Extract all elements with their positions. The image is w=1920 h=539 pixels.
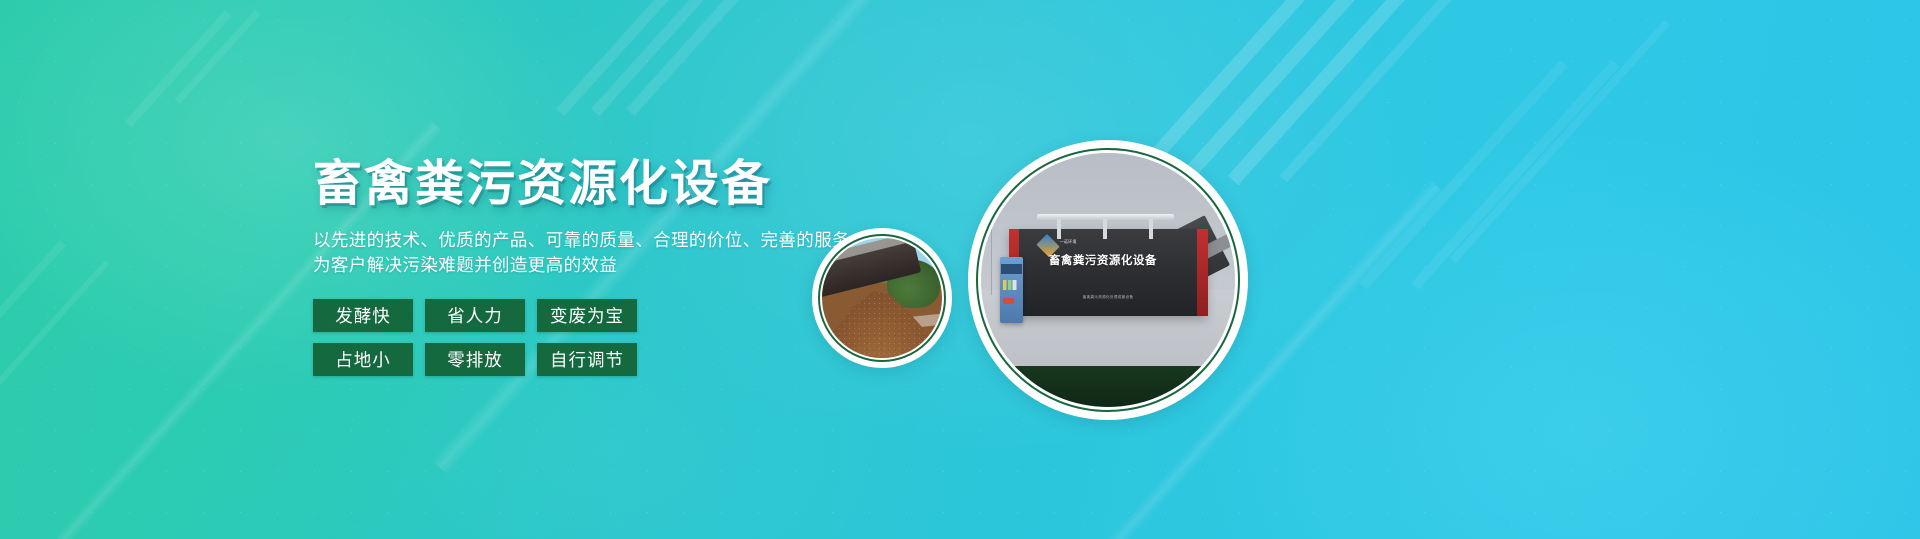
feature-tag-fajiaokuai[interactable]: 发酵快: [313, 299, 413, 332]
feature-tag-lingpaifang[interactable]: 零排放: [425, 343, 525, 376]
brand-logo-text: 一诺环境: [1060, 239, 1077, 245]
equipment-photo-image: 一诺环境 畜禽粪污资源化设备 畜禽粪污资源化处理成套设备: [981, 153, 1235, 407]
diagonal-stripe-decor: [125, 10, 232, 127]
noise-texture-overlay: [0, 0, 1920, 539]
compost-photo-circle[interactable]: [812, 228, 952, 368]
pipe-leg-decor: [1057, 219, 1061, 239]
photo-ring: [818, 234, 946, 362]
diagonal-stripe-decor: [1280, 0, 1455, 182]
machine-end-right-decor: [1197, 229, 1208, 315]
diagonal-stripe-decor: [1359, 60, 1567, 290]
control-button-decor: [1003, 298, 1014, 304]
photo-ring: 一诺环境 畜禽粪污资源化设备 畜禽粪污资源化处理成套设备: [976, 148, 1240, 412]
diagonal-stripe-decor: [1228, 0, 1406, 185]
diagonal-stripe-decor: [0, 240, 66, 424]
diagonal-stripe-decor: [175, 10, 260, 104]
compost-photo-image: [822, 238, 942, 358]
diagonal-stripe-decor: [626, 0, 768, 116]
diagonal-stripe-decor: [591, 0, 733, 116]
diagonal-stripe-decor: [1450, 20, 1670, 263]
hall-grass-decor: [981, 366, 1235, 407]
feature-tag-shengrenli[interactable]: 省人力: [425, 299, 525, 332]
light-bloom-decor: [1180, 120, 1920, 539]
feature-tag-zixingtiaojie[interactable]: 自行调节: [537, 343, 637, 376]
feature-tag-zhandixiao[interactable]: 占地小: [313, 343, 413, 376]
machine-label-text: 畜禽粪污资源化设备: [1024, 255, 1181, 268]
control-screen-decor: [1001, 264, 1022, 275]
equipment-photo-circle[interactable]: 一诺环境 畜禽粪污资源化设备 畜禽粪污资源化处理成套设备: [968, 140, 1248, 420]
diagonal-stripe-decor: [556, 0, 698, 116]
diagonal-stripe-decor: [1411, 60, 1619, 290]
hero-banner: 畜禽粪污资源化设备 以先进的技术、优质的产品、可靠的质量、合理的价位、完善的服务…: [0, 0, 1920, 539]
feature-tag-bianfeiweibao[interactable]: 变废为宝: [537, 299, 637, 332]
control-indicators-decor: [1003, 280, 1020, 291]
pipe-leg-decor: [1149, 219, 1153, 239]
diagonal-stripe-decor: [0, 260, 109, 413]
control-cabinet-decor: [1000, 257, 1023, 323]
pipe-leg-decor: [1103, 219, 1107, 239]
page-title: 畜禽粪污资源化设备: [313, 160, 953, 209]
machine-sublabel-text: 畜禽粪污资源化处理成套设备: [1045, 295, 1172, 300]
